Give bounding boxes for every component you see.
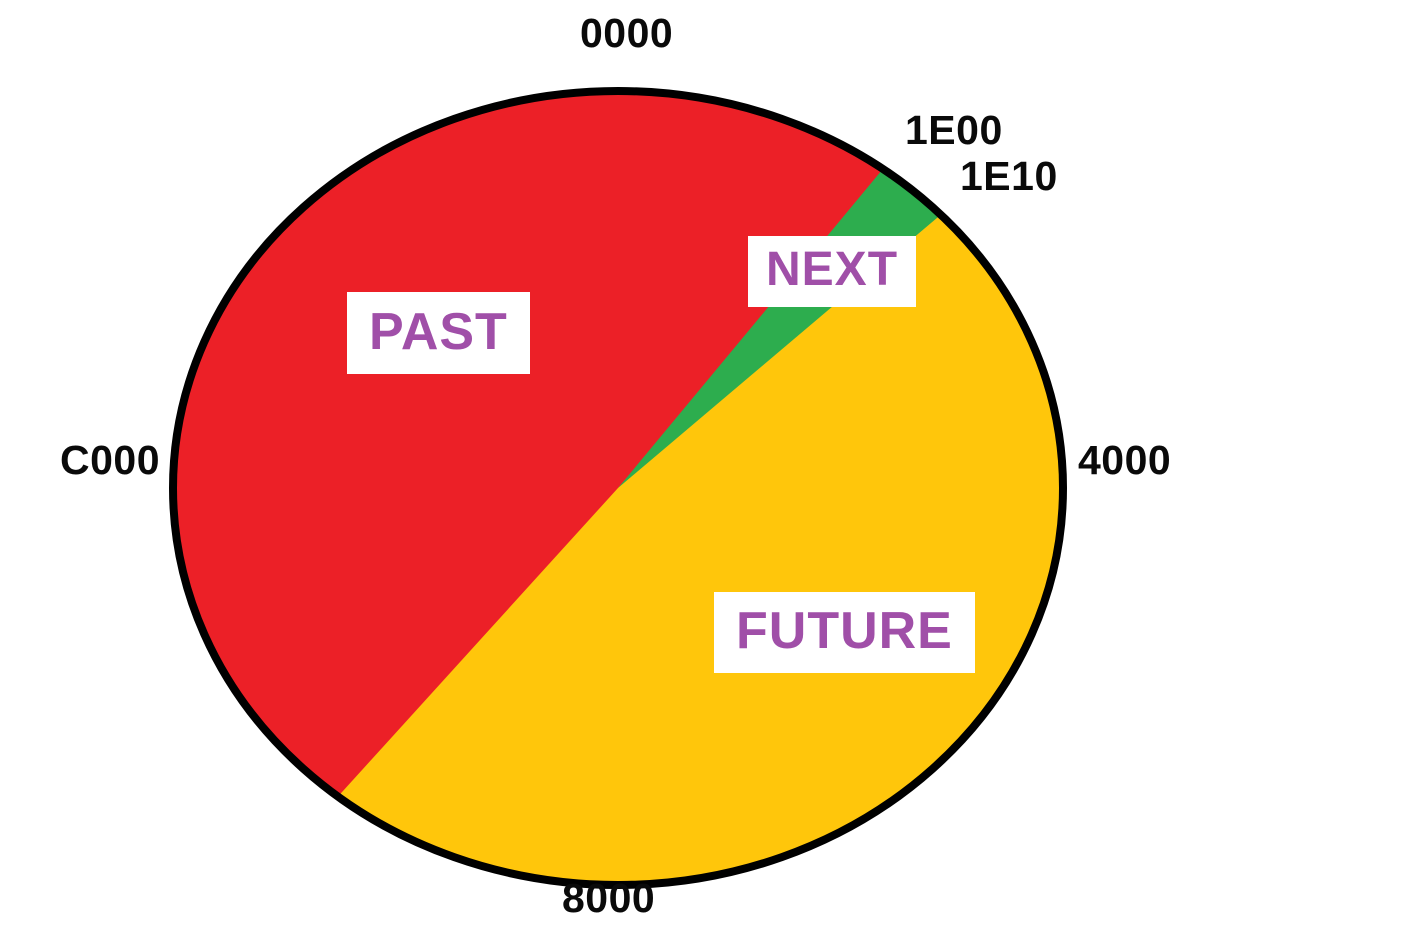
tick-label-0000: 0000: [580, 13, 673, 54]
tick-label-8000: 8000: [562, 878, 655, 919]
region-label-next: NEXT: [748, 236, 916, 307]
tick-label-c000: C000: [60, 440, 160, 481]
diagram-canvas: 0000 1E00 1E10 4000 8000 C000 PAST NEXT …: [0, 0, 1404, 949]
tick-label-1e00: 1E00: [905, 110, 1003, 151]
address-space-wheel: [0, 0, 1404, 949]
region-label-future: FUTURE: [714, 592, 975, 673]
tick-label-4000: 4000: [1078, 440, 1171, 481]
region-label-past: PAST: [347, 292, 530, 374]
tick-label-1e10: 1E10: [960, 156, 1058, 197]
